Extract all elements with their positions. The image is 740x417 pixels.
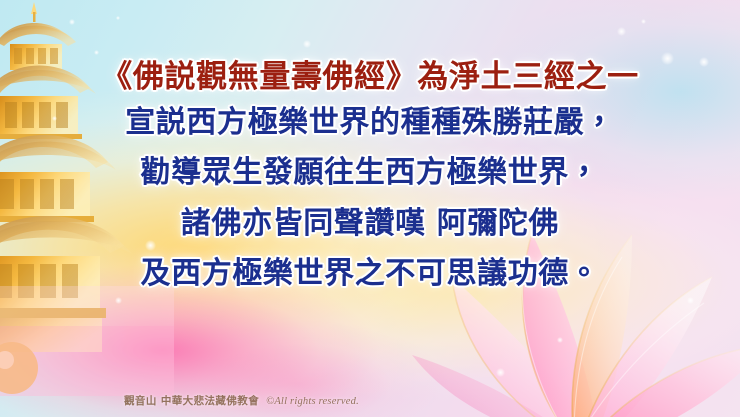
slide-canvas: 《佛説觀無量壽佛經》為淨土三經之一 宣説西方極樂世界的種種殊勝莊嚴， 勸導眾生發… <box>0 0 740 417</box>
sparkle-dot <box>303 40 311 48</box>
sparkle-dot <box>641 19 646 24</box>
sparkle-dot <box>617 27 626 36</box>
sutra-body-line-4: 及西方極樂世界之不可思議功德。 <box>0 259 740 290</box>
copyright-watermark: 觀音山 中華大悲法藏佛教會 ©All rights reserved. <box>124 393 359 408</box>
sutra-body-line-1: 宣説西方極樂世界的種種殊勝莊嚴， <box>0 108 740 139</box>
organization-name: 觀音山 中華大悲法藏佛教會 <box>124 393 259 408</box>
sutra-text-block: 《佛説觀無量壽佛經》為淨土三經之一 宣説西方極樂世界的種種殊勝莊嚴， 勸導眾生發… <box>0 62 740 290</box>
rights-reserved-text: ©All rights reserved. <box>266 396 359 407</box>
sutra-body-line-2: 勸導眾生發願往生西方極樂世界， <box>0 158 740 189</box>
sutra-title: 《佛説觀無量壽佛經》為淨土三經之一 <box>0 62 740 94</box>
sutra-body-line-3: 諸佛亦皆同聲讚嘆 阿彌陀佛 <box>0 209 740 240</box>
